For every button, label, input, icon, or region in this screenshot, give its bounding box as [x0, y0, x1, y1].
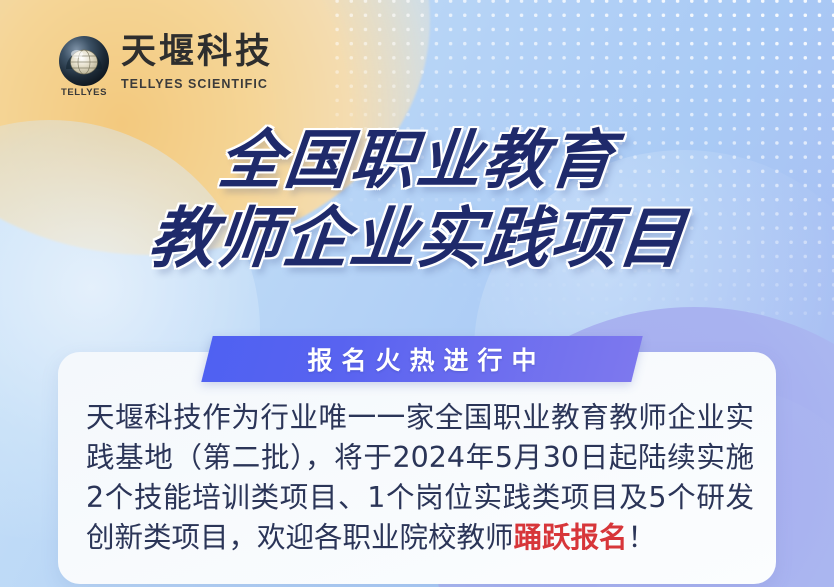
poster-root: TELLYES 天堰科技 TELLYES SCIENTIFIC 全国职业教育 教…: [0, 0, 834, 587]
brand-logo: TELLYES 天堰科技 TELLYES SCIENTIFIC: [58, 33, 273, 91]
announcement-text: 天堰科技作为行业唯一一家全国职业教育教师企业实践基地（第二批），将于2024年5…: [86, 398, 754, 558]
tellyes-globe-logo-icon: [58, 35, 110, 87]
brand-name-cn: 天堰科技: [121, 33, 273, 71]
brand-text: 天堰科技 TELLYES SCIENTIFIC: [121, 33, 273, 91]
registration-banner-label: 报名火热进行中: [207, 336, 637, 382]
brand-name-en: TELLYES SCIENTIFIC: [121, 77, 273, 91]
title-line-1: 全国职业教育: [0, 122, 834, 200]
title-line-2: 教师企业实践项目: [0, 200, 834, 278]
poster-title: 全国职业教育 教师企业实践项目: [0, 122, 834, 278]
logo-mark-label: TELLYES: [58, 87, 110, 98]
announcement-text-part2: ！: [628, 521, 657, 554]
announcement-highlight: 踊跃报名: [514, 521, 628, 554]
